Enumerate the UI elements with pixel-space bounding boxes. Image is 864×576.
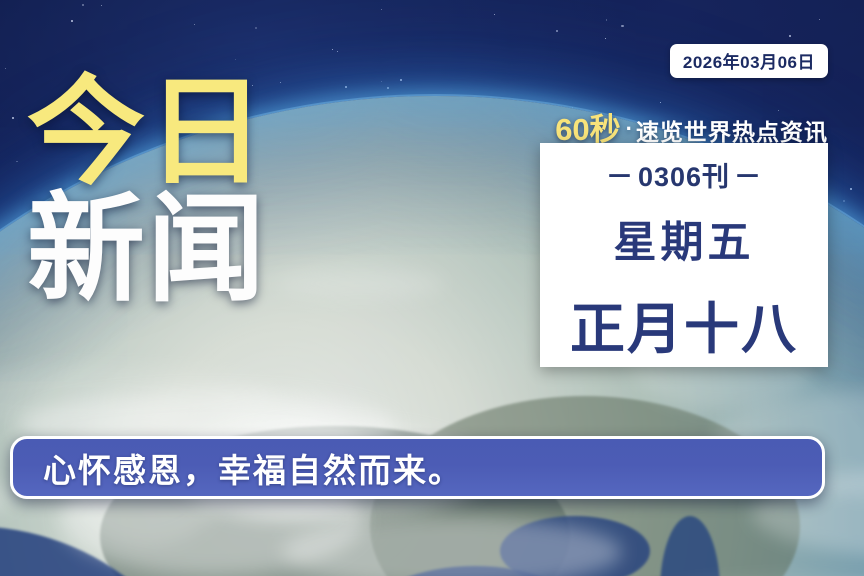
issue-dash-left: －: [606, 162, 634, 192]
issue-dash-right: －: [734, 162, 762, 192]
cloud-wisp: [276, 268, 444, 299]
page-title: 今日 新闻: [27, 78, 267, 303]
news-poster: 今日 新闻 2026年03月06日 60秒·速览世界热点资讯 －0306刊－ 星…: [0, 0, 864, 576]
tagline-seconds: 60秒: [555, 112, 620, 147]
tagline-description: 速览世界热点资讯: [636, 119, 828, 145]
tagline-separator: ·: [626, 116, 633, 141]
lunar-date-label: 正月十八: [570, 284, 798, 364]
issue-number: －0306刊－: [602, 155, 766, 194]
issue-label: 0306刊: [638, 162, 730, 192]
quote-text: 心怀感恩，幸福自然而来。: [43, 444, 463, 492]
headline-line-1: 今日: [27, 78, 267, 187]
weekday-label: 星期五: [614, 208, 755, 270]
date-badge: 2026年03月06日: [670, 44, 828, 78]
quote-bar: 心怀感恩，幸福自然而来。: [10, 436, 825, 499]
headline-line-2: 新闻: [27, 195, 267, 304]
info-card: －0306刊－ 星期五 正月十八: [540, 143, 828, 367]
